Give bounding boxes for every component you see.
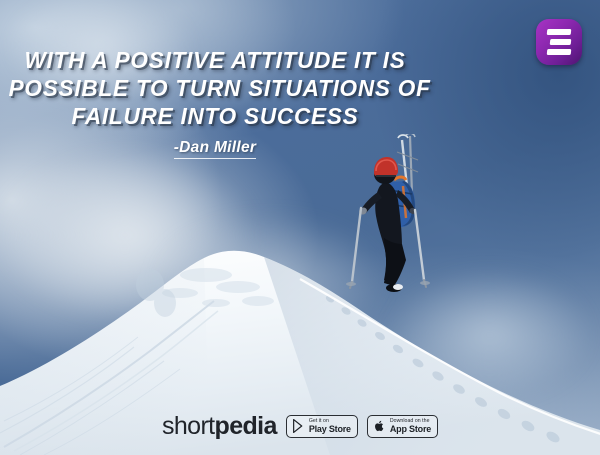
app-store-label: Download on the App Store (390, 419, 431, 435)
shortpedia-wordmark: shortpedia (162, 414, 277, 439)
quote-image-canvas: WITH A POSITIVE ATTITUDE IT IS POSSIBLE … (0, 0, 600, 455)
quote-line-3: FAILURE INTO SUCCESS (9, 102, 422, 130)
apple-app-store-badge[interactable]: Download on the App Store (367, 415, 438, 439)
quote-text-block: WITH A POSITIVE ATTITUDE IT IS POSSIBLE … (0, 46, 430, 159)
snow-mountain-ridge (0, 175, 600, 455)
quote-line-2: POSSIBLE TO TURN SITUATIONS OF (9, 74, 422, 102)
app-store-main-text: App Store (390, 425, 431, 434)
footer-branding-bar: shortpedia Get it on Play Store Download… (0, 414, 600, 439)
play-store-main-text: Play Store (309, 425, 351, 434)
wordmark-short: short (162, 412, 215, 440)
quote-author: -Dan Miller (174, 139, 257, 159)
google-play-icon (292, 419, 305, 433)
quote-author-wrap: -Dan Miller (0, 139, 430, 159)
apple-icon (373, 419, 386, 433)
app-store-top-text: Download on the (390, 419, 431, 424)
shortpedia-logo-badge[interactable] (536, 19, 582, 65)
play-store-label: Get it on Play Store (309, 419, 351, 435)
quote-line-1: WITH A POSITIVE ATTITUDE IT IS (9, 46, 422, 74)
wordmark-pedia: pedia (215, 412, 277, 440)
stacked-bars-s-icon (547, 29, 571, 55)
google-play-store-badge[interactable]: Get it on Play Store (286, 415, 358, 439)
play-store-top-text: Get it on (309, 419, 351, 424)
